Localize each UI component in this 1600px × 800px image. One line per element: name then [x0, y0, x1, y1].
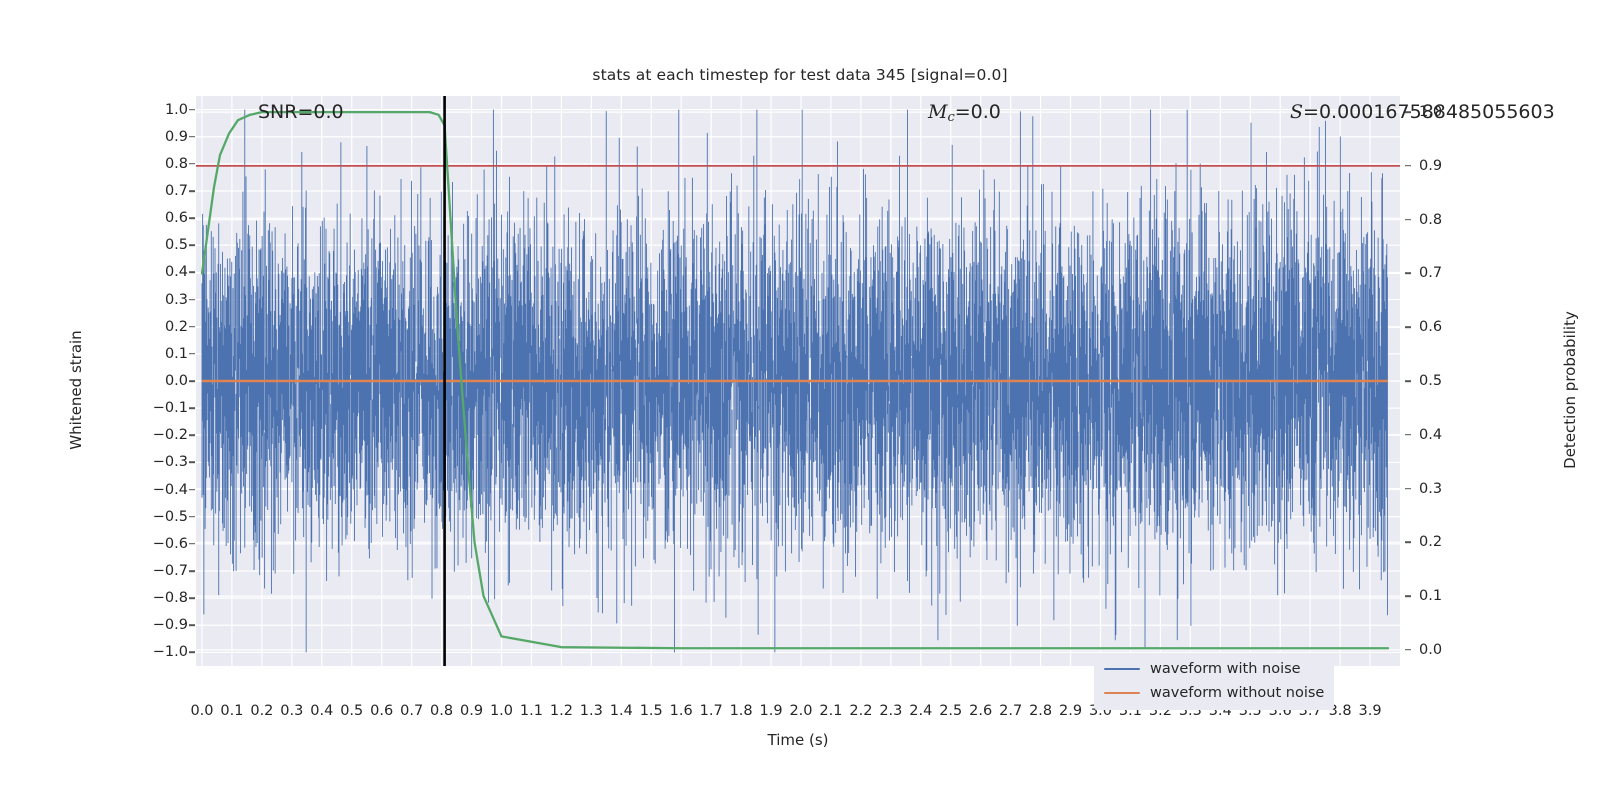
x-axis-tick-label: 0.0: [190, 703, 213, 719]
y-axis-left-tick-label: 0.8: [126, 156, 188, 172]
y-axis-right-tick-mark: [1405, 326, 1411, 328]
plot-area: [196, 96, 1400, 666]
x-axis-tick-label: 2.7: [999, 703, 1022, 719]
y-axis-left-tick-label: 0.0: [126, 373, 188, 389]
y-axis-left-tick-mark: [189, 652, 195, 654]
x-axis-tick-label: 0.6: [370, 703, 393, 719]
y-axis-right-tick-label: 0.6: [1419, 319, 1442, 335]
y-axis-left-tick-label: 0.9: [126, 129, 188, 145]
y-axis-left-tick-mark: [189, 136, 195, 138]
y-axis-right-tick-mark: [1405, 649, 1411, 651]
annotation-statistic: S=0.000167588485055603: [1290, 101, 1555, 123]
y-axis-left-tick-mark: [189, 217, 195, 219]
y-axis-left-tick-label: 0.4: [126, 264, 188, 280]
y-axis-left-tick-mark: [189, 272, 195, 274]
y-axis-right-tick-label: 0.4: [1419, 427, 1442, 443]
x-axis-tick-label: 0.1: [220, 703, 243, 719]
y-axis-left-tick-label: −0.6: [126, 536, 188, 552]
series-layer: [196, 96, 1400, 666]
y-axis-right-tick-mark: [1405, 595, 1411, 597]
x-axis-tick-label: 0.5: [340, 703, 363, 719]
y-axis-left-tick-mark: [189, 624, 195, 626]
y-axis-left-tick-label: −1.0: [126, 644, 188, 660]
y-axis-left-tick-mark: [189, 190, 195, 192]
y-axis-left-tick-label: 0.2: [126, 319, 188, 335]
legend-color-swatch: [1104, 692, 1140, 695]
x-axis-tick-label: 2.1: [819, 703, 842, 719]
y-axis-left-tick-label: 1.0: [126, 102, 188, 118]
legend-item[interactable]: waveform with noise: [1104, 658, 1324, 680]
annotation-snr: SNR=0.0: [258, 101, 344, 123]
x-axis-tick-label: 0.4: [310, 703, 333, 719]
y-axis-left-label: Whitened strain: [67, 270, 85, 510]
x-axis-tick-label: 2.0: [789, 703, 812, 719]
y-axis-right-tick-label: 0.1: [1419, 588, 1442, 604]
x-axis-tick-label: 1.0: [490, 703, 513, 719]
x-axis-tick-label: 2.4: [909, 703, 932, 719]
x-axis-tick-label: 1.9: [760, 703, 783, 719]
x-axis-tick-label: 0.7: [400, 703, 423, 719]
y-axis-right-tick-label: 0.9: [1419, 158, 1442, 174]
y-axis-left-tick-label: −0.1: [126, 400, 188, 416]
y-axis-left-tick-mark: [189, 407, 195, 409]
y-axis-left-tick-mark: [189, 597, 195, 599]
y-axis-left-tick-label: −0.8: [126, 590, 188, 606]
y-axis-left-tick-mark: [189, 543, 195, 545]
figure: stats at each timestep for test data 345…: [0, 0, 1600, 800]
y-axis-left-tick-mark: [189, 489, 195, 491]
legend-item[interactable]: waveform without noise: [1104, 682, 1324, 704]
x-axis-tick-label: 1.4: [610, 703, 633, 719]
legend-color-swatch: [1104, 668, 1140, 671]
y-axis-right-tick-mark: [1405, 542, 1411, 544]
x-axis-tick-label: 3.9: [1359, 703, 1382, 719]
x-axis-tick-label: 2.2: [849, 703, 872, 719]
y-axis-left-tick-mark: [189, 570, 195, 572]
y-axis-left-tick-label: −0.2: [126, 427, 188, 443]
y-axis-left-tick-mark: [189, 380, 195, 382]
y-axis-left-tick-mark: [189, 109, 195, 111]
x-axis-tick-label: 2.9: [1059, 703, 1082, 719]
y-axis-left-tick-label: 0.3: [126, 292, 188, 308]
x-axis-tick-label: 0.2: [250, 703, 273, 719]
x-axis-tick-label: 1.2: [550, 703, 573, 719]
legend: waveform with noisewaveform without nois…: [1094, 653, 1334, 710]
x-axis-tick-label: 2.8: [1029, 703, 1052, 719]
y-axis-left-tick-label: 0.6: [126, 210, 188, 226]
y-axis-left-tick-mark: [189, 353, 195, 355]
y-axis-right-tick-label: 0.7: [1419, 265, 1442, 281]
x-axis-label: Time (s): [196, 731, 1400, 749]
x-axis-tick-label: 1.5: [640, 703, 663, 719]
y-axis-left-tick-mark: [189, 299, 195, 301]
x-axis-tick-label: 2.3: [879, 703, 902, 719]
annotation-chirp-mass-value: =0.0: [955, 101, 1001, 123]
y-axis-left-tick-label: −0.4: [126, 482, 188, 498]
y-axis-right-label: Detection probability: [1561, 250, 1579, 530]
legend-item-label: waveform with noise: [1150, 661, 1301, 677]
x-axis-tick-label: 1.7: [700, 703, 723, 719]
y-axis-right-tick-label: 0.2: [1419, 534, 1442, 550]
y-axis-left-tick-mark: [189, 244, 195, 246]
annotation-chirp-mass-symbol: M: [928, 101, 947, 123]
y-axis-right-tick-mark: [1405, 380, 1411, 382]
x-axis-tick-label: 1.1: [520, 703, 543, 719]
y-axis-left-tick-mark: [189, 434, 195, 436]
x-axis-tick-label: 2.6: [969, 703, 992, 719]
y-axis-right-tick-mark: [1405, 165, 1411, 167]
x-axis-tick-label: 0.9: [460, 703, 483, 719]
y-axis-left-tick-mark: [189, 516, 195, 518]
page-title: stats at each timestep for test data 345…: [0, 66, 1600, 84]
y-axis-left-tick-mark: [189, 326, 195, 328]
x-axis-tick-label: 2.5: [939, 703, 962, 719]
y-axis-right-tick-label: 0.8: [1419, 212, 1442, 228]
x-axis-tick-label: 0.3: [280, 703, 303, 719]
y-axis-right-tick-mark: [1405, 273, 1411, 275]
y-axis-left-tick-label: −0.5: [126, 509, 188, 525]
x-axis-tick-label: 1.8: [730, 703, 753, 719]
annotation-chirp-mass: Mc=0.0: [928, 101, 1001, 125]
y-axis-left-tick-mark: [189, 163, 195, 165]
y-axis-left-tick-mark: [189, 462, 195, 464]
y-axis-left-tick-label: −0.3: [126, 454, 188, 470]
y-axis-left-tick-label: 0.7: [126, 183, 188, 199]
legend-item-label: waveform without noise: [1150, 685, 1324, 701]
y-axis-right-tick-mark: [1405, 219, 1411, 221]
annotation-statistic-symbol: S: [1290, 101, 1303, 123]
y-axis-right-tick-label: 0.5: [1419, 373, 1442, 389]
y-axis-left-tick-label: −0.9: [126, 617, 188, 633]
x-axis-tick-label: 1.3: [580, 703, 603, 719]
annotation-chirp-mass-subscript: c: [947, 110, 954, 125]
y-axis-right-tick-label: 0.3: [1419, 481, 1442, 497]
annotation-statistic-value: =0.000167588485055603: [1303, 101, 1555, 123]
x-axis-tick-label: 0.8: [430, 703, 453, 719]
y-axis-right-tick-mark: [1405, 434, 1411, 436]
y-axis-left-tick-label: −0.7: [126, 563, 188, 579]
y-axis-left-tick-label: 0.5: [126, 237, 188, 253]
x-axis-tick-label: 1.6: [670, 703, 693, 719]
y-axis-right-tick-mark: [1405, 488, 1411, 490]
y-axis-left-tick-label: 0.1: [126, 346, 188, 362]
y-axis-right-tick-label: 0.0: [1419, 642, 1442, 658]
